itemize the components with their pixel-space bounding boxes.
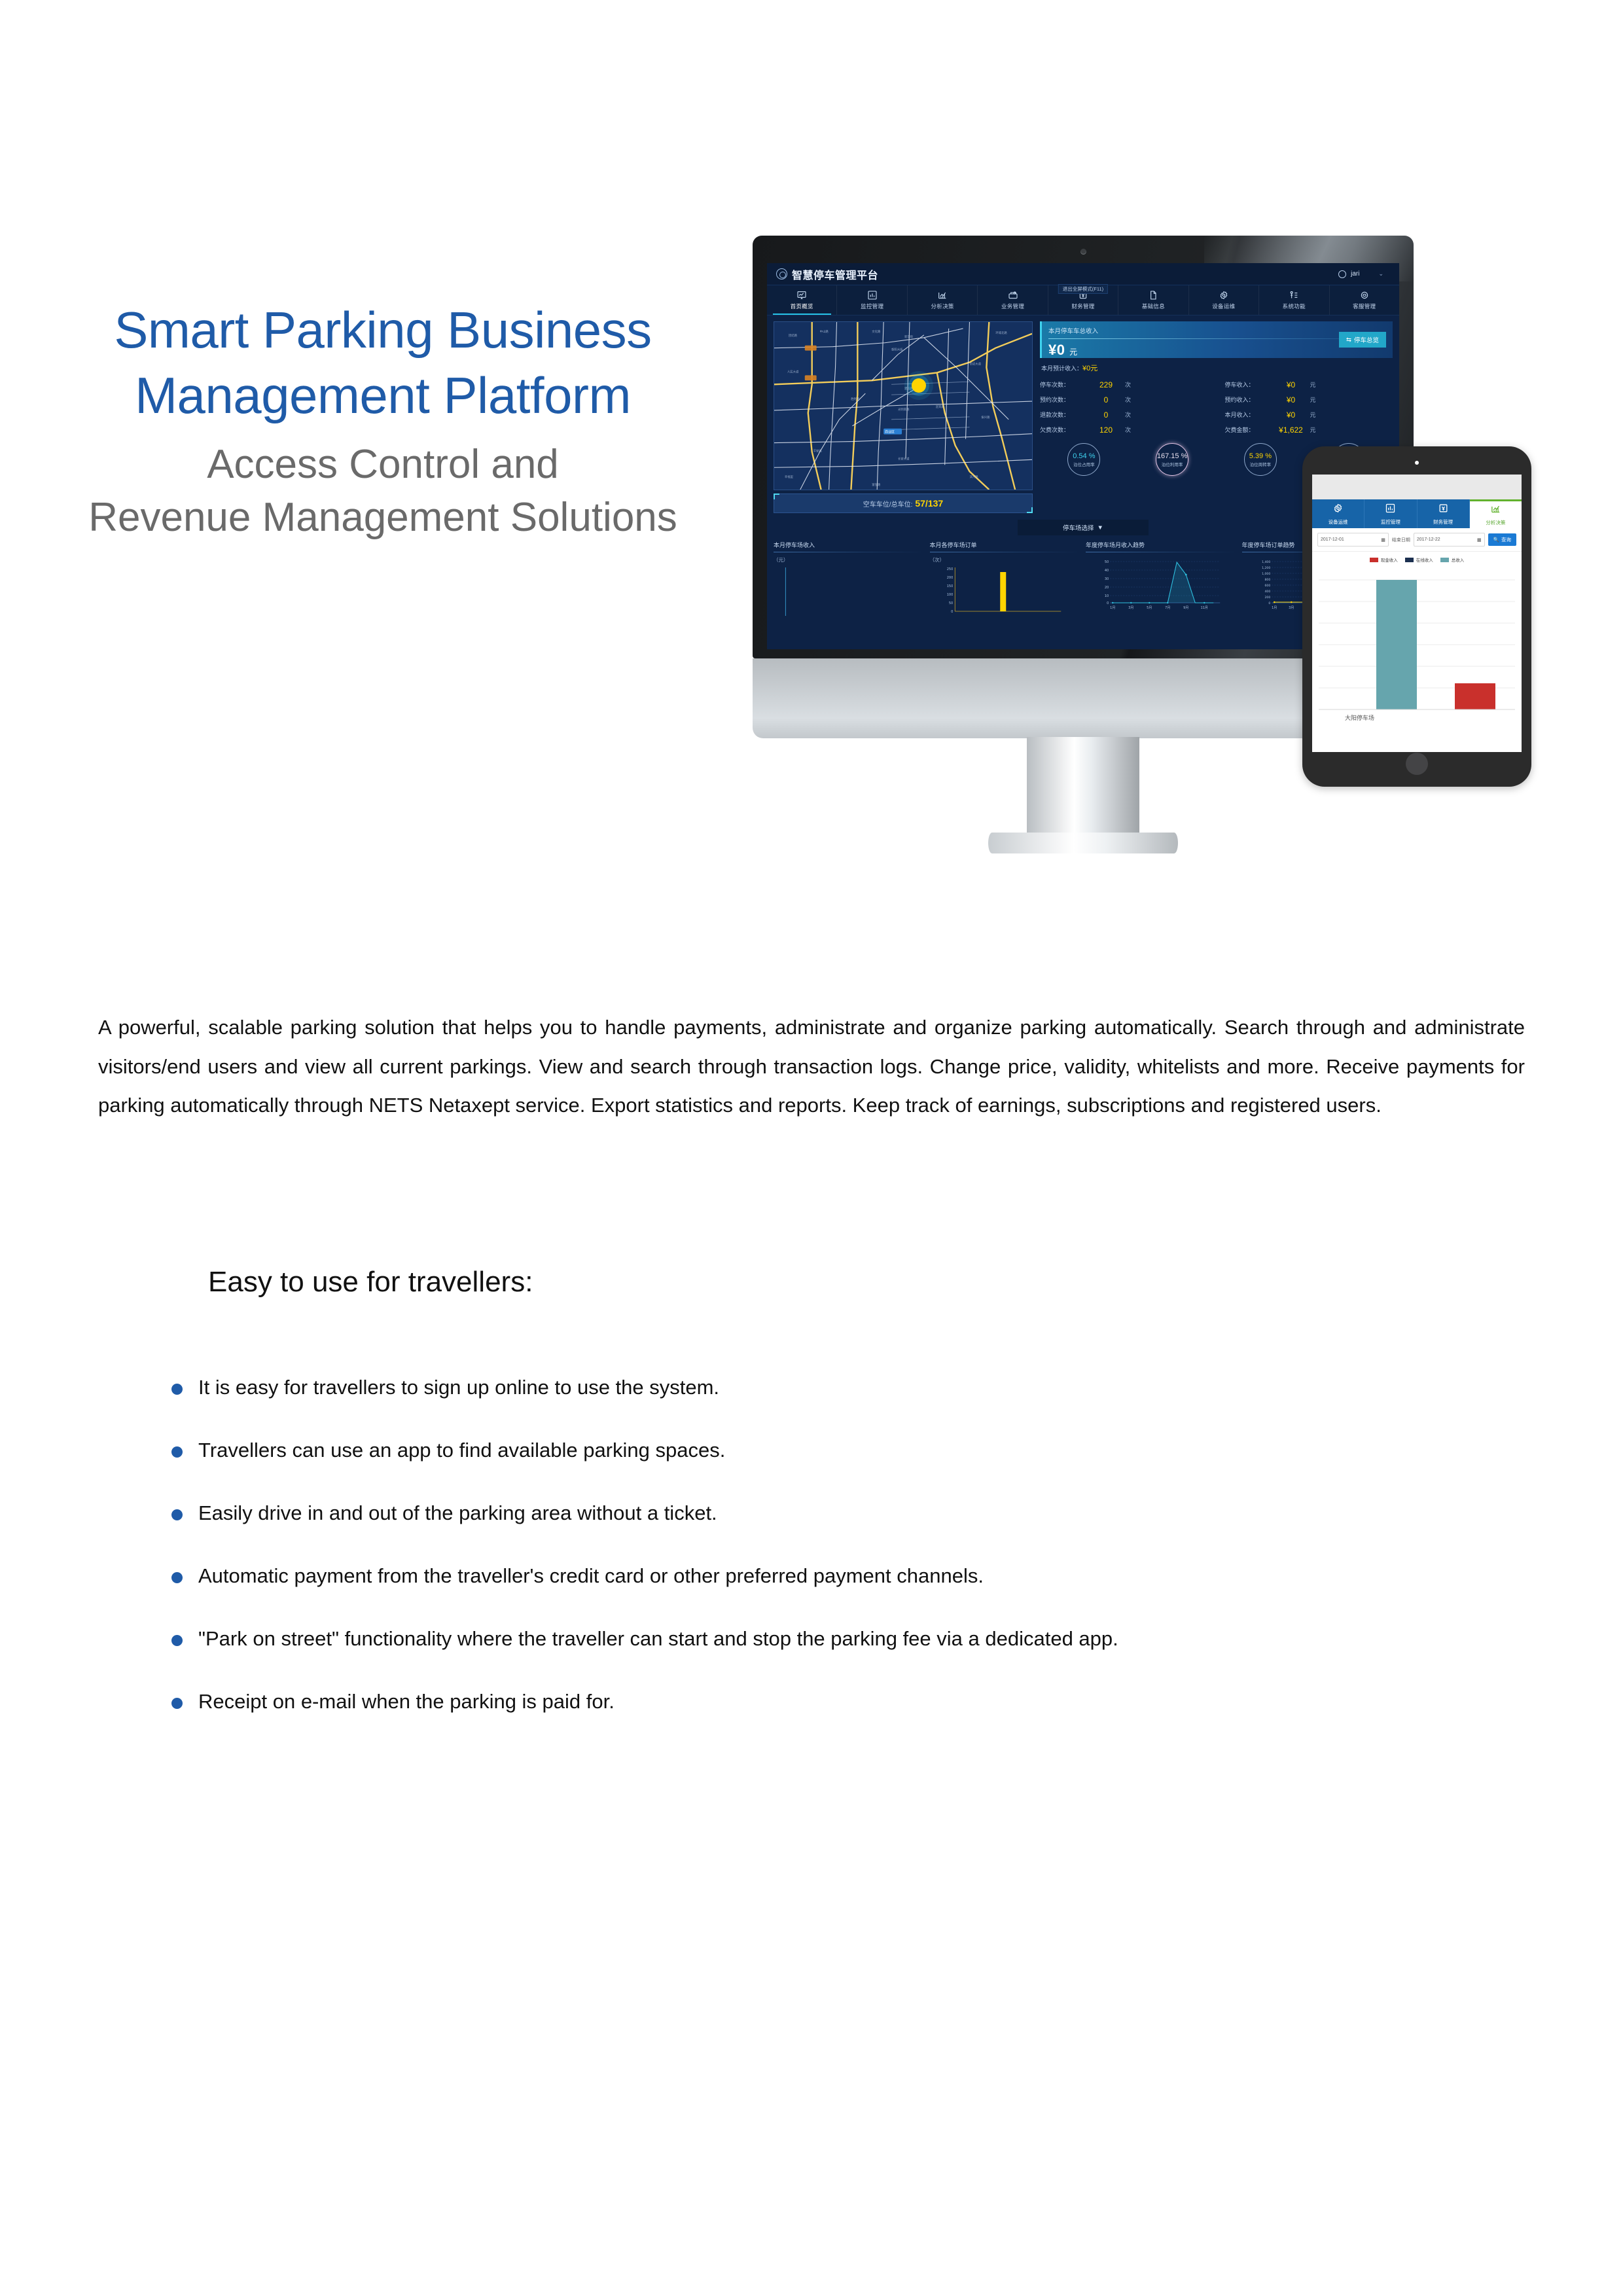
gauge-label: 泊位占用率	[1073, 461, 1095, 467]
svg-text:振兴路: 振兴路	[981, 415, 990, 420]
search-label: 查询	[1501, 536, 1511, 543]
nav-item-finance[interactable]: 退出全屏模式(F11) 财务管理	[1048, 285, 1118, 315]
date-separator-label: 结束日期	[1392, 537, 1410, 543]
bar-chart-icon	[1385, 503, 1396, 517]
bullet-text: Easily drive in and out of the parking a…	[198, 1498, 1454, 1529]
kpi-key: 停车收入：	[1225, 380, 1272, 389]
parking-overview-label: 停车总览	[1354, 335, 1379, 344]
svg-text:迎宾路: 迎宾路	[936, 404, 945, 409]
svg-text:7月: 7月	[1165, 606, 1170, 610]
kpi-item: 本月收入：¥0元	[1225, 407, 1393, 422]
user-circle-icon	[1338, 270, 1346, 278]
chart-legend: 现金收入 在线收入 总收入	[1312, 552, 1522, 565]
nav-item-customer-service[interactable]: 客服管理	[1330, 285, 1399, 315]
dashboard-brand: 智慧停车管理平台	[776, 266, 878, 282]
page-subtitle-line-2: Revenue Management Solutions	[72, 491, 694, 545]
nav-label: 业务管理	[1001, 302, 1024, 310]
kpi-unit: 元	[1310, 425, 1393, 434]
chart-y-unit: （次）	[930, 556, 1081, 564]
search-icon: 🔍	[1493, 537, 1499, 543]
svg-text:光明南路: 光明南路	[898, 407, 910, 412]
gauge-utilization: 167.15 %泊位利用率	[1128, 441, 1217, 478]
page-subtitle-line-1: Access Control and	[72, 438, 694, 492]
dashboard-header: 智慧停车管理平台 jari ⌄	[767, 263, 1399, 285]
tablet-nav-monitoring[interactable]: 监控管理	[1364, 499, 1417, 528]
calendar-icon: ▦	[1381, 537, 1385, 543]
parking-overview-button[interactable]: ⇆ 停车总览	[1339, 332, 1386, 348]
svg-text:富强路: 富强路	[872, 482, 881, 487]
kpi-key: 欠费金额：	[1225, 425, 1272, 434]
svg-text:世纪大道: 世纪大道	[969, 361, 981, 366]
legend-label: 现金收入	[1381, 556, 1398, 563]
bullet-dot-icon	[171, 1572, 183, 1583]
revenue-band-label: 本月停车车总收入	[1048, 326, 1386, 335]
list-item: Easily drive in and out of the parking a…	[171, 1498, 1454, 1529]
caret-down-icon: ▼	[1097, 524, 1103, 531]
divider	[774, 552, 925, 552]
svg-text:3月: 3月	[1289, 606, 1294, 610]
monitor-stand-neck	[1027, 737, 1139, 842]
yuan-box-icon	[1438, 503, 1449, 517]
gauge-turnover: 5.39 %泊位周转率	[1217, 441, 1305, 478]
bullet-dot-icon	[171, 1446, 183, 1458]
svg-text:11月: 11月	[1201, 606, 1208, 610]
content-section: A powerful, scalable parking solution th…	[0, 1008, 1623, 1749]
nav-item-device-ops[interactable]: 设备运维	[1189, 285, 1259, 315]
space-summary-value: 57/137	[915, 498, 943, 509]
fullscreen-tooltip: 退出全屏模式(F11)	[1058, 284, 1108, 294]
corner-decoration	[774, 493, 779, 499]
bottom-chart-row: 本月停车场收入 （元） 本月各停车场订单 （次）	[774, 541, 1393, 621]
kpi-value: ¥0	[1272, 410, 1310, 420]
legend-item-total[interactable]: 总收入	[1440, 556, 1465, 563]
chart-title: 本月停车场收入	[774, 541, 925, 549]
trend-up-icon	[936, 290, 948, 300]
nav-label: 财务管理	[1071, 302, 1094, 310]
kpi-unit: 次	[1125, 380, 1208, 389]
svg-text:环城北路: 环城北路	[995, 331, 1007, 335]
dashboard-nav: 首页概览 监控管理 分析决策 业务管理 退出全屏模	[767, 285, 1399, 315]
svg-text:30: 30	[1105, 577, 1109, 581]
hero-section: Smart Parking Business Management Platfo…	[0, 0, 1623, 903]
kpi-key: 预约次数：	[1040, 395, 1087, 404]
gauge-value: 167.15 %	[1157, 452, 1187, 460]
kpi-item: 退款次数：0次	[1040, 407, 1208, 422]
kpi-value: 120	[1087, 425, 1125, 435]
tablet-x-label: 大阳停车场	[1345, 714, 1374, 722]
svg-text:平安路: 平安路	[813, 448, 823, 453]
svg-text:800: 800	[1264, 578, 1270, 582]
svg-text:1月: 1月	[1110, 606, 1115, 610]
title-block: Smart Parking Business Management Platfo…	[72, 298, 694, 545]
legend-label: 在线收入	[1416, 556, 1433, 563]
headset-icon	[1359, 290, 1370, 300]
search-button[interactable]: 🔍 查询	[1488, 533, 1516, 546]
user-name: jari	[1351, 270, 1359, 278]
document-icon	[1147, 290, 1159, 300]
tablet-nav-label: 分析决策	[1486, 519, 1505, 526]
bullet-text: Travellers can use an app to find availa…	[198, 1435, 1454, 1466]
svg-text:200: 200	[1264, 596, 1270, 600]
svg-text:50: 50	[948, 601, 952, 605]
nav-label: 设备运维	[1212, 302, 1235, 310]
corner-decoration	[1027, 507, 1033, 513]
svg-text:胜利路: 胜利路	[851, 397, 860, 401]
kpi-item: 预约收入：¥0元	[1225, 392, 1393, 407]
svg-text:0: 0	[1107, 601, 1109, 605]
nav-item-business[interactable]: 业务管理	[978, 285, 1048, 315]
date-from-input[interactable]: 2017-12-01 ▦	[1317, 533, 1389, 547]
bullet-text: Automatic payment from the traveller's c…	[198, 1560, 1454, 1592]
svg-text:3月: 3月	[1128, 606, 1133, 610]
chart-plot: 250200150 100500	[930, 565, 1081, 621]
kpi-unit: 元	[1310, 395, 1393, 404]
kpi-value: ¥0	[1272, 395, 1310, 404]
monitor-chart-icon	[796, 290, 808, 300]
svg-text:9月: 9月	[1183, 606, 1188, 610]
svg-text:600: 600	[1264, 584, 1270, 588]
section-heading: Easy to use for travellers:	[208, 1266, 1623, 1299]
person-list-icon	[1288, 290, 1300, 300]
kpi-unit: 次	[1125, 410, 1208, 419]
svg-text:幸福里: 幸福里	[785, 475, 794, 479]
tablet-camera-icon	[1415, 461, 1419, 465]
kpi-key: 本月收入：	[1225, 410, 1272, 419]
kpi-key: 停车次数：	[1040, 380, 1087, 389]
tablet-home-button[interactable]	[1406, 753, 1428, 775]
tablet-date-filter: 2017-12-01 ▦ 结束日期 2017-12-22 ▦ 🔍 查询	[1312, 528, 1522, 552]
legend-item-online[interactable]: 在线收入	[1405, 556, 1433, 563]
kpi-unit: 次	[1125, 395, 1208, 404]
page-title-line-1: Smart Parking Business	[72, 298, 694, 363]
svg-text:0: 0	[951, 610, 953, 614]
nav-label: 首页概览	[791, 302, 813, 310]
svg-text:1,400: 1,400	[1262, 560, 1270, 564]
tablet-nav-analysis[interactable]: 分析决策	[1470, 499, 1522, 528]
parking-lot-selector-label: 停车场选择	[1063, 523, 1094, 532]
chart-title: 本月各停车场订单	[930, 541, 1081, 549]
chart-plot	[774, 565, 925, 621]
car-icon: ⇆	[1346, 336, 1351, 344]
revenue-band: 本月停车车总收入 ¥0 元 ⇆ 停车总览	[1040, 321, 1393, 358]
svg-text:10: 10	[1105, 594, 1109, 598]
expected-revenue: 本月预计收入：¥0元	[1041, 363, 1393, 373]
tablet-screen: 设备运维 监控管理 财务管理 分析决策 2017-12-01	[1312, 475, 1522, 752]
divider	[930, 552, 1081, 552]
tablet-topbar	[1312, 475, 1522, 499]
chart-card-yearly-revenue-trend: 年度停车场月收入趋势	[1086, 541, 1237, 621]
legend-swatch	[1370, 558, 1378, 562]
tablet-nav-label: 财务管理	[1433, 518, 1453, 526]
svg-text:文化路: 文化路	[872, 329, 881, 334]
svg-text:中山路: 中山路	[820, 329, 829, 334]
nav-item-monitoring[interactable]: 监控管理	[837, 285, 907, 315]
gauge-value: 5.39 %	[1249, 452, 1272, 460]
kpi-item: 预约次数：0次	[1040, 392, 1208, 407]
legend-label: 总收入	[1452, 556, 1465, 563]
bullet-dot-icon	[171, 1698, 183, 1709]
expected-revenue-value: ¥0元	[1082, 365, 1097, 372]
kpi-value: ¥1,622	[1272, 425, 1310, 435]
gauge-value: 0.54 %	[1073, 452, 1095, 460]
tablet-nav: 设备运维 监控管理 财务管理 分析决策	[1312, 499, 1522, 528]
svg-text:150: 150	[946, 584, 953, 588]
calendar-icon: ▦	[1477, 537, 1482, 543]
nav-label: 分析决策	[931, 302, 954, 310]
list-item: It is easy for travellers to sign up onl…	[171, 1372, 1454, 1403]
gauge-occupancy: 0.54 %泊位占用率	[1040, 441, 1128, 478]
svg-text:1月: 1月	[1272, 606, 1277, 610]
nav-item-system-functions[interactable]: 系统功能	[1259, 285, 1329, 315]
expected-revenue-label: 本月预计收入：	[1041, 365, 1082, 372]
page-title-line-2: Management Platform	[72, 363, 694, 429]
svg-text:20: 20	[1105, 586, 1109, 590]
chart-title: 年度停车场月收入趋势	[1086, 541, 1237, 549]
chart-card-monthly-revenue: 本月停车场收入 （元）	[774, 541, 925, 621]
tablet-bar-chart: 大阳停车场	[1312, 565, 1522, 729]
kpi-value: 229	[1087, 380, 1125, 389]
legend-swatch	[1405, 558, 1414, 562]
svg-text:250: 250	[946, 567, 953, 571]
monitor-stand-foot	[988, 833, 1178, 853]
city-map[interactable]: 团结路中山路 文化路新华街 人民大道朝阳大街 胜利路建设路 光明南路迎宾路 平安…	[774, 321, 1033, 490]
nav-label: 系统功能	[1283, 302, 1306, 310]
svg-text:商业区: 商业区	[885, 430, 895, 435]
gauge-label: 泊位利用率	[1162, 461, 1183, 467]
kpi-grid: 停车次数：229次 停车收入：¥0元 预约次数：0次 预约收入：¥0元 退款次数…	[1040, 377, 1393, 437]
bullet-dot-icon	[171, 1384, 183, 1395]
svg-text:400: 400	[1264, 590, 1270, 594]
svg-text:团结路: 团结路	[789, 333, 798, 338]
list-item: Receipt on e-mail when the parking is pa…	[171, 1686, 1454, 1717]
legend-swatch	[1440, 558, 1449, 562]
bullet-text: "Park on street" functionality where the…	[198, 1623, 1454, 1655]
space-summary-label: 空车车位/总车位:	[863, 499, 913, 509]
divider	[1048, 338, 1386, 339]
kpi-value: 0	[1087, 395, 1125, 404]
gauge-label: 泊位周转率	[1250, 461, 1272, 467]
parking-space-summary: 空车车位/总车位: 57/137	[774, 493, 1033, 513]
kpi-key: 预约收入：	[1225, 395, 1272, 404]
chart-card-monthly-orders: 本月各停车场订单 （次） 250200150 100500	[930, 541, 1081, 621]
svg-text:200: 200	[946, 576, 953, 580]
kpi-value: 0	[1087, 410, 1125, 420]
emblem-icon	[776, 268, 787, 279]
trend-up-icon	[1490, 503, 1501, 518]
svg-text:新华街: 新华街	[904, 334, 914, 339]
nav-item-analysis[interactable]: 分析决策	[908, 285, 978, 315]
bullet-dot-icon	[171, 1635, 183, 1646]
map-marker-icon[interactable]	[912, 378, 926, 393]
kpi-value: ¥0	[1272, 380, 1310, 389]
svg-text:50: 50	[1105, 560, 1109, 564]
gear-icon	[1332, 503, 1344, 517]
legend-item-cash[interactable]: 现金收入	[1370, 556, 1398, 563]
parking-lot-selector[interactable]: 停车场选择 ▼	[1018, 520, 1149, 535]
list-item: Automatic payment from the traveller's c…	[171, 1560, 1454, 1592]
date-to-value: 2017-12-22	[1417, 537, 1440, 542]
tablet-mockup: 设备运维 监控管理 财务管理 分析决策 2017-12-01	[1302, 446, 1531, 787]
svg-text:朝阳大街: 朝阳大街	[891, 348, 903, 352]
tablet-nav-device-ops[interactable]: 设备运维	[1312, 499, 1364, 528]
svg-text:1,000: 1,000	[1262, 572, 1270, 576]
kpi-item: 停车次数：229次	[1040, 377, 1208, 392]
svg-text:人民大道: 人民大道	[787, 369, 799, 374]
nav-item-basic-info[interactable]: 基础信息	[1118, 285, 1188, 315]
user-menu[interactable]: jari ⌄	[1332, 268, 1390, 280]
kpi-item: 停车收入：¥0元	[1225, 377, 1393, 392]
date-to-input[interactable]: 2017-12-22 ▦	[1414, 533, 1485, 547]
svg-text:0: 0	[1268, 601, 1270, 605]
kpi-unit: 次	[1125, 425, 1208, 434]
chart-plot: 504030 20100	[1086, 556, 1237, 613]
bullet-text: Receipt on e-mail when the parking is pa…	[198, 1686, 1454, 1717]
nav-label: 客服管理	[1353, 302, 1376, 310]
revenue-amount-unit: 元	[1069, 348, 1078, 357]
feature-bullet-list: It is easy for travellers to sign up onl…	[171, 1372, 1454, 1717]
chart-y-unit: （元）	[774, 556, 925, 564]
map-panel: 团结路中山路 文化路新华街 人民大道朝阳大街 胜利路建设路 光明南路迎宾路 平安…	[774, 321, 1033, 513]
divider	[1086, 552, 1237, 552]
bar-chart-icon	[866, 290, 878, 300]
gear-icon	[1218, 290, 1230, 300]
list-item: "Park on street" functionality where the…	[171, 1623, 1454, 1655]
business-icon	[1007, 290, 1019, 300]
chevron-down-icon: ⌄	[1378, 270, 1383, 278]
svg-text:5月: 5月	[1147, 606, 1152, 610]
svg-text:40: 40	[1105, 569, 1109, 573]
svg-text:1,200: 1,200	[1262, 566, 1270, 570]
bullet-dot-icon	[171, 1509, 183, 1520]
kpi-item: 欠费次数：120次	[1040, 422, 1208, 437]
bullet-text: It is easy for travellers to sign up onl…	[198, 1372, 1454, 1403]
svg-text:滨河路: 滨河路	[969, 475, 978, 479]
tablet-nav-finance[interactable]: 财务管理	[1418, 499, 1470, 528]
kpi-unit: 元	[1310, 380, 1393, 389]
map-roads: 团结路中山路 文化路新华街 人民大道朝阳大街 胜利路建设路 光明南路迎宾路 平安…	[774, 322, 1032, 490]
kpi-key: 欠费次数：	[1040, 425, 1087, 434]
monitor-webcam-icon	[1080, 249, 1086, 255]
intro-paragraph: A powerful, scalable parking solution th…	[98, 1008, 1525, 1125]
kpi-key: 退款次数：	[1040, 410, 1087, 419]
dashboard-title: 智慧停车管理平台	[792, 266, 878, 282]
tablet-nav-label: 设备运维	[1329, 518, 1348, 526]
svg-text:长安大道: 长安大道	[898, 456, 910, 461]
nav-label: 基础信息	[1142, 302, 1165, 310]
kpi-item: 欠费金额：¥1,622元	[1225, 422, 1393, 437]
nav-label: 监控管理	[861, 302, 883, 310]
list-item: Travellers can use an app to find availa…	[171, 1435, 1454, 1466]
kpi-unit: 元	[1310, 410, 1393, 419]
svg-text:100: 100	[946, 593, 953, 597]
nav-item-home-overview[interactable]: 首页概览	[767, 285, 837, 315]
revenue-amount: ¥0	[1048, 342, 1065, 358]
tablet-nav-label: 监控管理	[1381, 518, 1400, 526]
date-from-value: 2017-12-01	[1321, 537, 1344, 542]
